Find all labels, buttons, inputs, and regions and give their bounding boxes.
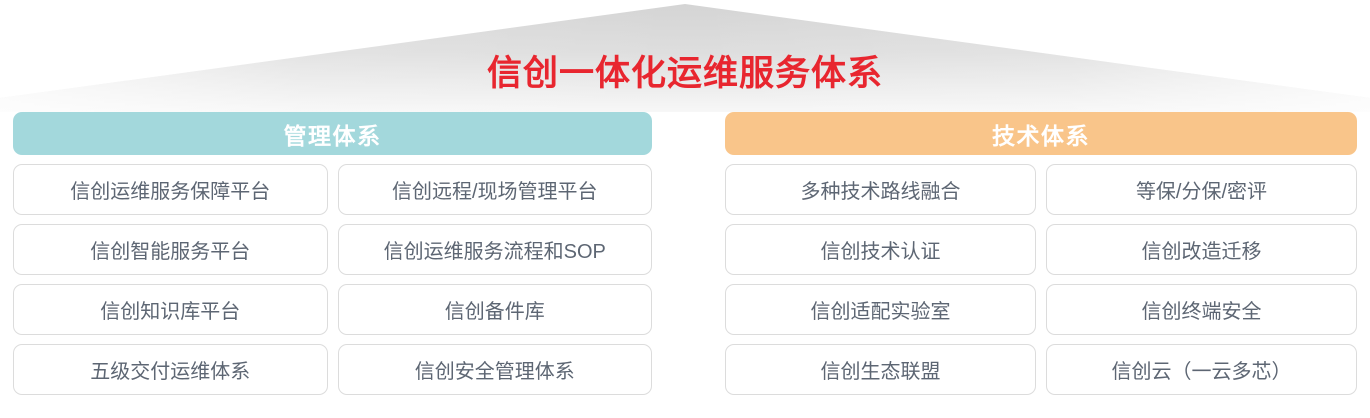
cell-management-5[interactable]: 信创知识库平台 (13, 284, 328, 335)
panel-header-management: 管理体系 (13, 112, 652, 155)
cell-technology-5[interactable]: 信创适配实验室 (725, 284, 1036, 335)
cell-management-6[interactable]: 信创备件库 (338, 284, 653, 335)
cell-technology-2[interactable]: 等保/分保/密评 (1046, 164, 1357, 215)
cell-management-7[interactable]: 五级交付运维体系 (13, 344, 328, 395)
cell-technology-8[interactable]: 信创云（一云多芯） (1046, 344, 1357, 395)
cell-management-1[interactable]: 信创运维服务保障平台 (13, 164, 328, 215)
systems-panels: 管理体系 信创运维服务保障平台 信创远程/现场管理平台 信创智能服务平台 信创运… (0, 112, 1370, 418)
panel-header-technology: 技术体系 (725, 112, 1357, 155)
cell-technology-3[interactable]: 信创技术认证 (725, 224, 1036, 275)
cell-technology-1[interactable]: 多种技术路线融合 (725, 164, 1036, 215)
cell-technology-6[interactable]: 信创终端安全 (1046, 284, 1357, 335)
panel-grid-technology: 多种技术路线融合 等保/分保/密评 信创技术认证 信创改造迁移 信创适配实验室 … (725, 164, 1357, 395)
cell-management-4[interactable]: 信创运维服务流程和SOP (338, 224, 653, 275)
cell-technology-7[interactable]: 信创生态联盟 (725, 344, 1036, 395)
cell-technology-4[interactable]: 信创改造迁移 (1046, 224, 1357, 275)
cell-management-8[interactable]: 信创安全管理体系 (338, 344, 653, 395)
panel-technology: 技术体系 多种技术路线融合 等保/分保/密评 信创技术认证 信创改造迁移 信创适… (665, 112, 1370, 418)
panel-management: 管理体系 信创运维服务保障平台 信创远程/现场管理平台 信创智能服务平台 信创运… (0, 112, 665, 418)
panel-grid-management: 信创运维服务保障平台 信创远程/现场管理平台 信创智能服务平台 信创运维服务流程… (13, 164, 652, 395)
cell-management-2[interactable]: 信创远程/现场管理平台 (338, 164, 653, 215)
page-title: 信创一体化运维服务体系 (0, 52, 1370, 96)
roof-banner: 信创一体化运维服务体系 (0, 0, 1370, 112)
cell-management-3[interactable]: 信创智能服务平台 (13, 224, 328, 275)
